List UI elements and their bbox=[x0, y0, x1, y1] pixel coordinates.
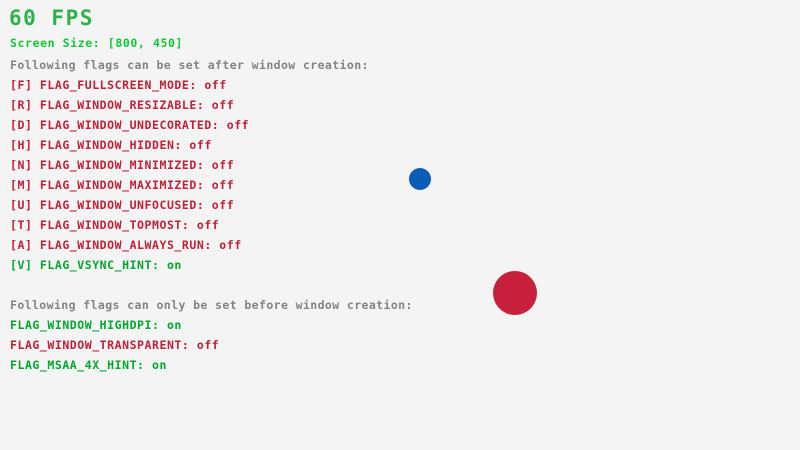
creation-flags-header: Following flags can only be set before w… bbox=[10, 299, 413, 312]
app-window[interactable]: 60 FPS Screen Size: [800, 450] Following… bbox=[0, 0, 800, 450]
flag-row-window-maximized[interactable]: [M] FLAG_WINDOW_MAXIMIZED: off bbox=[10, 179, 234, 192]
flag-row-window-minimized[interactable]: [N] FLAG_WINDOW_MINIMIZED: off bbox=[10, 159, 234, 172]
flag-row-window-topmost[interactable]: [T] FLAG_WINDOW_TOPMOST: off bbox=[10, 219, 219, 232]
small-blue-ball bbox=[409, 168, 431, 190]
flag-row-vsync-hint[interactable]: [V] FLAG_VSYNC_HINT: on bbox=[10, 259, 182, 272]
runtime-flags-header: Following flags can be set after window … bbox=[10, 59, 369, 72]
fps-counter: 60 FPS bbox=[9, 7, 94, 29]
flag-row-window-highdpi: FLAG_WINDOW_HIGHDPI: on bbox=[10, 319, 182, 332]
flag-row-window-unfocused[interactable]: [U] FLAG_WINDOW_UNFOCUSED: off bbox=[10, 199, 234, 212]
flag-row-window-resizable[interactable]: [R] FLAG_WINDOW_RESIZABLE: off bbox=[10, 99, 234, 112]
flag-row-window-transparent: FLAG_WINDOW_TRANSPARENT: off bbox=[10, 339, 219, 352]
flag-row-msaa-4x-hint: FLAG_MSAA_4X_HINT: on bbox=[10, 359, 167, 372]
flag-row-fullscreen-mode[interactable]: [F] FLAG_FULLSCREEN_MODE: off bbox=[10, 79, 227, 92]
screen-size-label: Screen Size: [800, 450] bbox=[10, 37, 183, 50]
flag-row-window-always-run[interactable]: [A] FLAG_WINDOW_ALWAYS_RUN: off bbox=[10, 239, 242, 252]
flag-row-window-hidden[interactable]: [H] FLAG_WINDOW_HIDDEN: off bbox=[10, 139, 212, 152]
large-red-ball bbox=[493, 271, 537, 315]
flag-row-window-undecorated[interactable]: [D] FLAG_WINDOW_UNDECORATED: off bbox=[10, 119, 249, 132]
